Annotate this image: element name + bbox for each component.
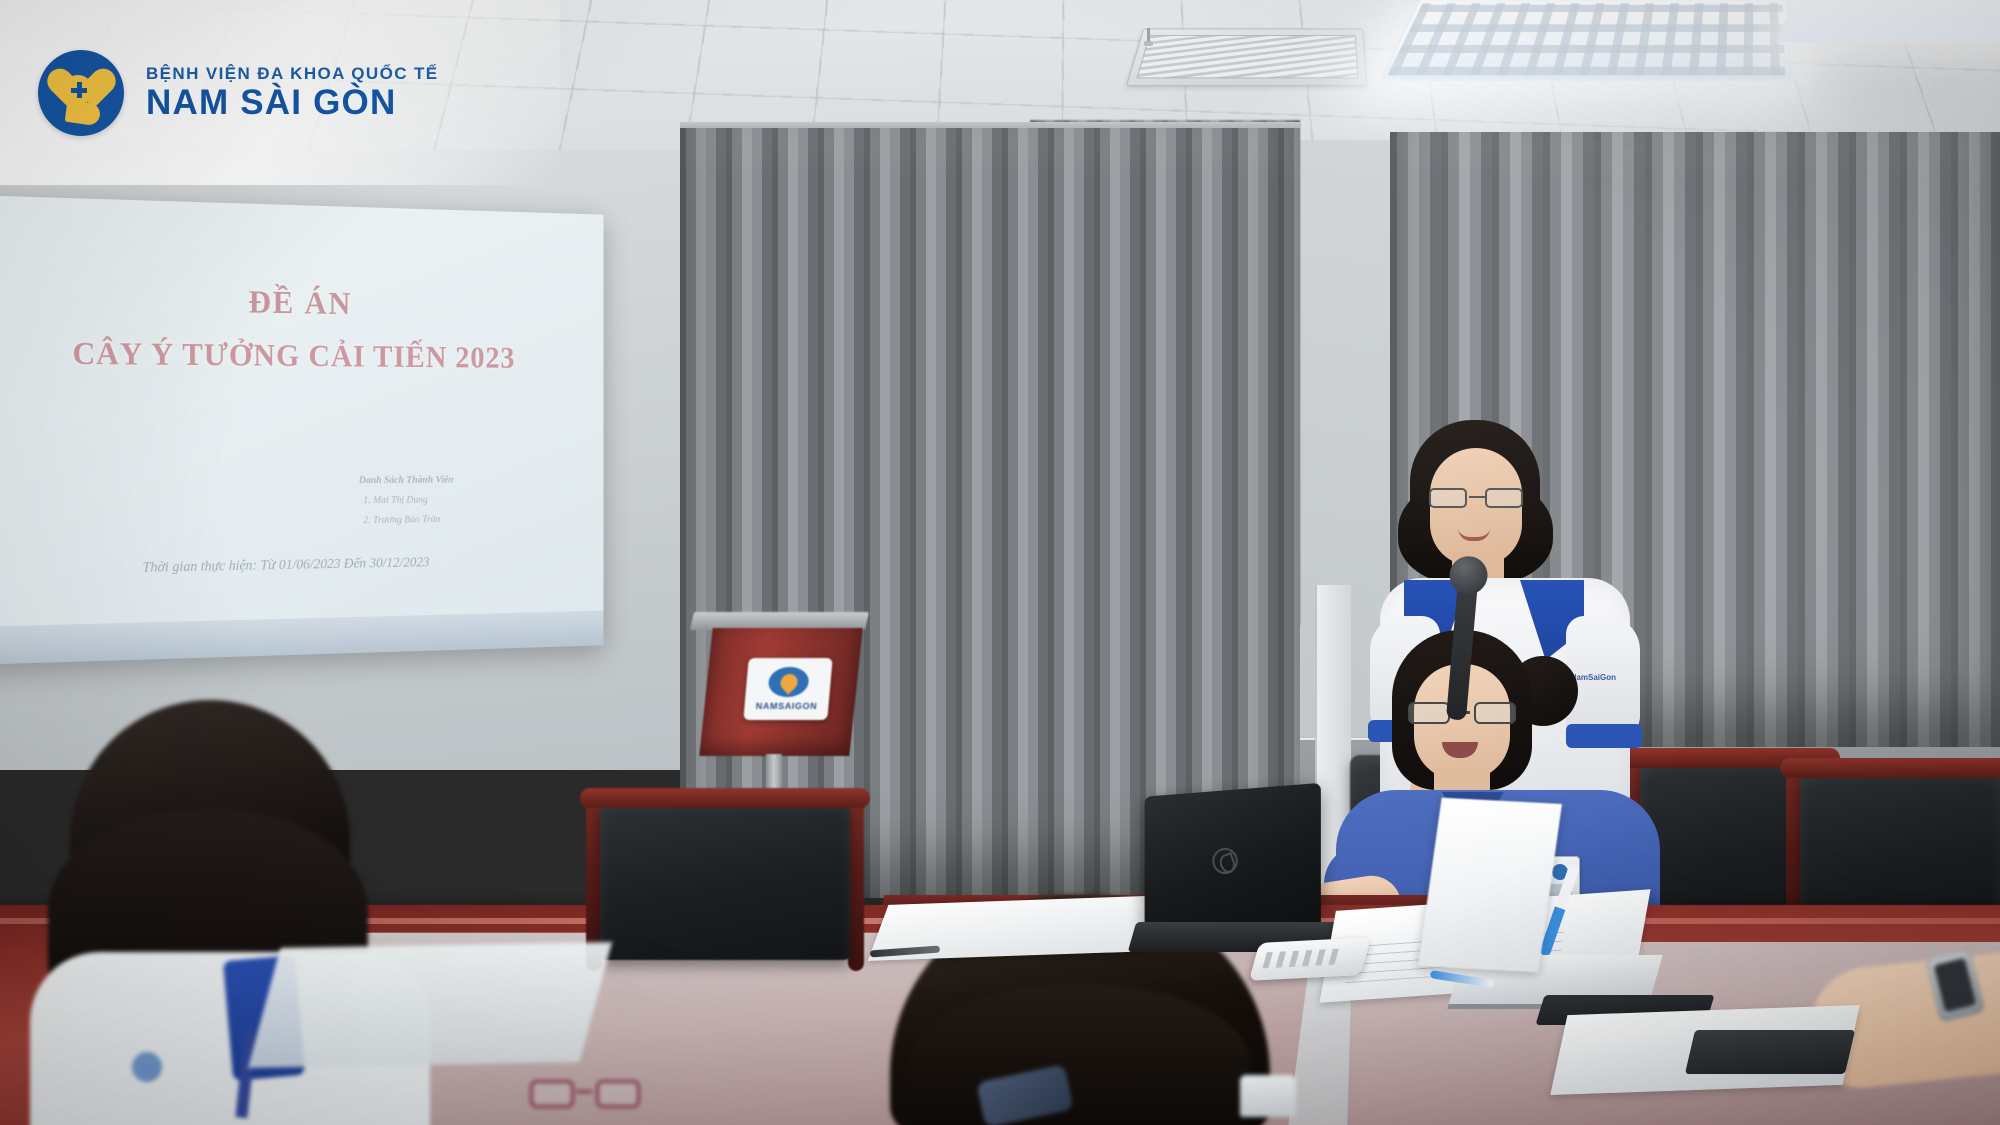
slide-timeline-text: Thời gian thực hiện: Từ 01/06/2023 Đến 3… <box>0 552 582 580</box>
led-ceiling-light-panel-secondary <box>1776 0 2000 42</box>
dell-logo-icon <box>1212 848 1237 874</box>
eyeglasses-on-table <box>530 1080 640 1114</box>
slide-members-list: Mai Thị Dung Trương Bảo Trân <box>373 489 566 530</box>
chair-left-foreground <box>600 800 850 960</box>
dell-laptop <box>1140 790 1340 965</box>
slide-title-line1: ĐỀ ÁN <box>0 279 604 326</box>
led-ceiling-light-panel <box>1379 0 1792 81</box>
held-documents <box>1418 798 1562 973</box>
slide-members-heading: Danh Sách Thành Viên <box>359 470 566 491</box>
eyeglasses-icon <box>1427 488 1525 508</box>
dark-tablet-device <box>1685 1030 1855 1074</box>
hospital-logo-overlay: BỆNH VIỆN ĐA KHOA QUỐC TẾ NAM SÀI GÒN <box>0 0 560 185</box>
documents-foreground-left <box>248 942 612 1068</box>
coat-brand-logo-icon <box>132 1052 190 1100</box>
podium-sign-text: NAMSAIGON <box>755 701 817 711</box>
hospital-logo-text: BỆNH VIỆN ĐA KHOA QUỐC TẾ NAM SÀI GÒN <box>146 64 439 122</box>
air-conditioner-diffuser <box>1126 29 1367 87</box>
hospital-name-line2: NAM SÀI GÒN <box>146 84 439 122</box>
small-cup <box>1240 1075 1296 1117</box>
projection-screen: GON ĐỀ ÁN CÂY Ý TƯỞNG CẢI TIẾN 2023 Danh… <box>0 195 604 665</box>
sprinkler-head-icon <box>1144 28 1153 50</box>
namsaigon-heart-logo-icon <box>767 667 810 697</box>
slide-members-block: Danh Sách Thành Viên Mai Thị Dung Trương… <box>359 470 566 531</box>
slide-title-line2: CÂY Ý TƯỞNG CẢI TIẾN 2023 <box>0 335 604 377</box>
list-item: Trương Bảo Trân <box>373 508 566 530</box>
hospital-logo-icon <box>38 50 124 136</box>
podium-sign: NAMSAIGON <box>743 658 832 720</box>
hospital-name-line1: BỆNH VIỆN ĐA KHOA QUỐC TẾ <box>146 64 439 84</box>
air-conditioner-remote <box>1249 937 1371 981</box>
meeting-room-photo: GON ĐỀ ÁN CÂY Ý TƯỞNG CẢI TIẾN 2023 Danh… <box>0 0 2000 1125</box>
list-item: Mai Thị Dung <box>373 489 566 510</box>
